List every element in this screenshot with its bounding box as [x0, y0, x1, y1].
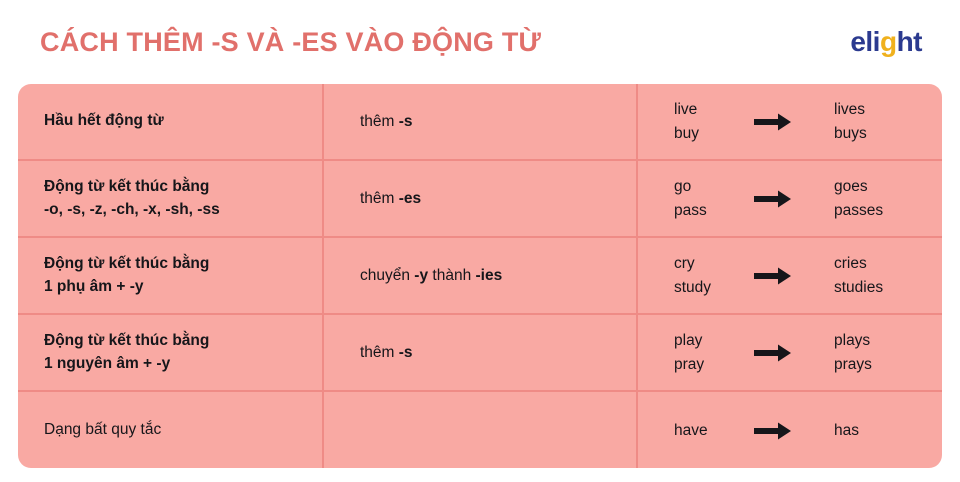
- example-result-line-1: goes: [834, 175, 938, 198]
- example-result: cries studies: [804, 252, 938, 299]
- rule-line-2: -o, -s, -z, -ch, -x, -sh, -ss: [44, 199, 322, 221]
- table-row: Động từ kết thúc bằng -o, -s, -z, -ch, -…: [18, 161, 942, 238]
- change-text: thêm -s: [360, 111, 636, 133]
- example-base-line-2: buy: [674, 122, 742, 145]
- change-text: chuyển -y thành -ies: [360, 265, 636, 287]
- logo-part-eli: eli: [850, 28, 880, 56]
- logo-part-g: g: [880, 28, 897, 56]
- change-prefix: thêm: [360, 344, 399, 361]
- change-suffix-bold: -s: [399, 113, 413, 130]
- example-cell: go pass goes passes: [638, 161, 938, 236]
- example-base: live buy: [638, 98, 742, 145]
- rule-cell: Dạng bất quy tắc: [18, 392, 324, 468]
- arrow-right-icon: [742, 113, 804, 131]
- example-result-line-1: plays: [834, 329, 938, 352]
- example-base: go pass: [638, 175, 742, 222]
- example-result-line-2: studies: [834, 276, 938, 299]
- rules-table: Hầu hết động từ thêm -s live buy lives b…: [18, 84, 942, 468]
- example-base: play pray: [638, 329, 742, 376]
- rule-line-2: 1 nguyên âm + -y: [44, 353, 322, 375]
- header: CÁCH THÊM -S VÀ -ES VÀO ĐỘNG TỪ elight: [0, 0, 960, 84]
- example-base-line-1: go: [674, 175, 742, 198]
- change-cell: thêm -es: [324, 161, 638, 236]
- example-cell: play pray plays prays: [638, 315, 938, 390]
- rule-cell: Hầu hết động từ: [18, 84, 324, 159]
- example-result-line-2: prays: [834, 353, 938, 376]
- table-row: Dạng bất quy tắc have has: [18, 392, 942, 468]
- change-from-bold: -y: [414, 267, 428, 284]
- change-prefix: chuyển: [360, 267, 414, 284]
- elight-logo: elight: [850, 28, 932, 56]
- example-base: cry study: [638, 252, 742, 299]
- infographic-page: CÁCH THÊM -S VÀ -ES VÀO ĐỘNG TỪ elight H…: [0, 0, 960, 482]
- change-cell: thêm -s: [324, 84, 638, 159]
- example-base-line-1: live: [674, 98, 742, 121]
- change-suffix-bold: -es: [399, 190, 421, 207]
- example-cell: cry study cries studies: [638, 238, 938, 313]
- change-cell: chuyển -y thành -ies: [324, 238, 638, 313]
- change-text: thêm -s: [360, 342, 636, 364]
- example-base-line-2: pray: [674, 353, 742, 376]
- rule-line-1: Hầu hết động từ: [44, 110, 322, 132]
- arrow-right-icon: [742, 344, 804, 362]
- rule-cell: Động từ kết thúc bằng 1 phụ âm + -y: [18, 238, 324, 313]
- example-base: have: [638, 419, 742, 442]
- example-result-line-1: lives: [834, 98, 938, 121]
- example-cell: have has: [638, 392, 938, 468]
- logo-part-ht: ht: [897, 28, 922, 56]
- example-base-line-1: play: [674, 329, 742, 352]
- rule-line-1: Động từ kết thúc bằng: [44, 330, 322, 352]
- change-prefix: thêm: [360, 190, 399, 207]
- change-suffix-bold: -s: [399, 344, 413, 361]
- rule-line-1: Dạng bất quy tắc: [44, 419, 322, 441]
- rule-line-2: 1 phụ âm + -y: [44, 276, 322, 298]
- change-cell: [324, 392, 638, 468]
- change-text: thêm -es: [360, 188, 636, 210]
- change-prefix: thêm: [360, 113, 399, 130]
- example-result-line-2: passes: [834, 199, 938, 222]
- arrow-right-icon: [742, 190, 804, 208]
- change-cell: thêm -s: [324, 315, 638, 390]
- arrow-right-icon: [742, 267, 804, 285]
- rule-line-1: Động từ kết thúc bằng: [44, 176, 322, 198]
- example-result: has: [804, 419, 938, 442]
- example-base-line-1: cry: [674, 252, 742, 275]
- example-result: plays prays: [804, 329, 938, 376]
- table-row: Động từ kết thúc bằng 1 nguyên âm + -y t…: [18, 315, 942, 392]
- example-base-line-2: pass: [674, 199, 742, 222]
- rule-line-1: Động từ kết thúc bằng: [44, 253, 322, 275]
- page-title: CÁCH THÊM -S VÀ -ES VÀO ĐỘNG TỪ: [40, 26, 541, 58]
- example-result: goes passes: [804, 175, 938, 222]
- arrow-right-icon: [742, 422, 804, 440]
- example-result-line-1: cries: [834, 252, 938, 275]
- table-row: Hầu hết động từ thêm -s live buy lives b…: [18, 84, 942, 161]
- example-base-line-1: have: [674, 419, 742, 442]
- example-result: lives buys: [804, 98, 938, 145]
- table-row: Động từ kết thúc bằng 1 phụ âm + -y chuy…: [18, 238, 942, 315]
- example-result-line-1: has: [834, 419, 938, 442]
- rule-cell: Động từ kết thúc bằng -o, -s, -z, -ch, -…: [18, 161, 324, 236]
- change-to-bold: -ies: [476, 267, 503, 284]
- example-cell: live buy lives buys: [638, 84, 938, 159]
- change-middle: thành: [428, 267, 475, 284]
- rule-cell: Động từ kết thúc bằng 1 nguyên âm + -y: [18, 315, 324, 390]
- example-result-line-2: buys: [834, 122, 938, 145]
- example-base-line-2: study: [674, 276, 742, 299]
